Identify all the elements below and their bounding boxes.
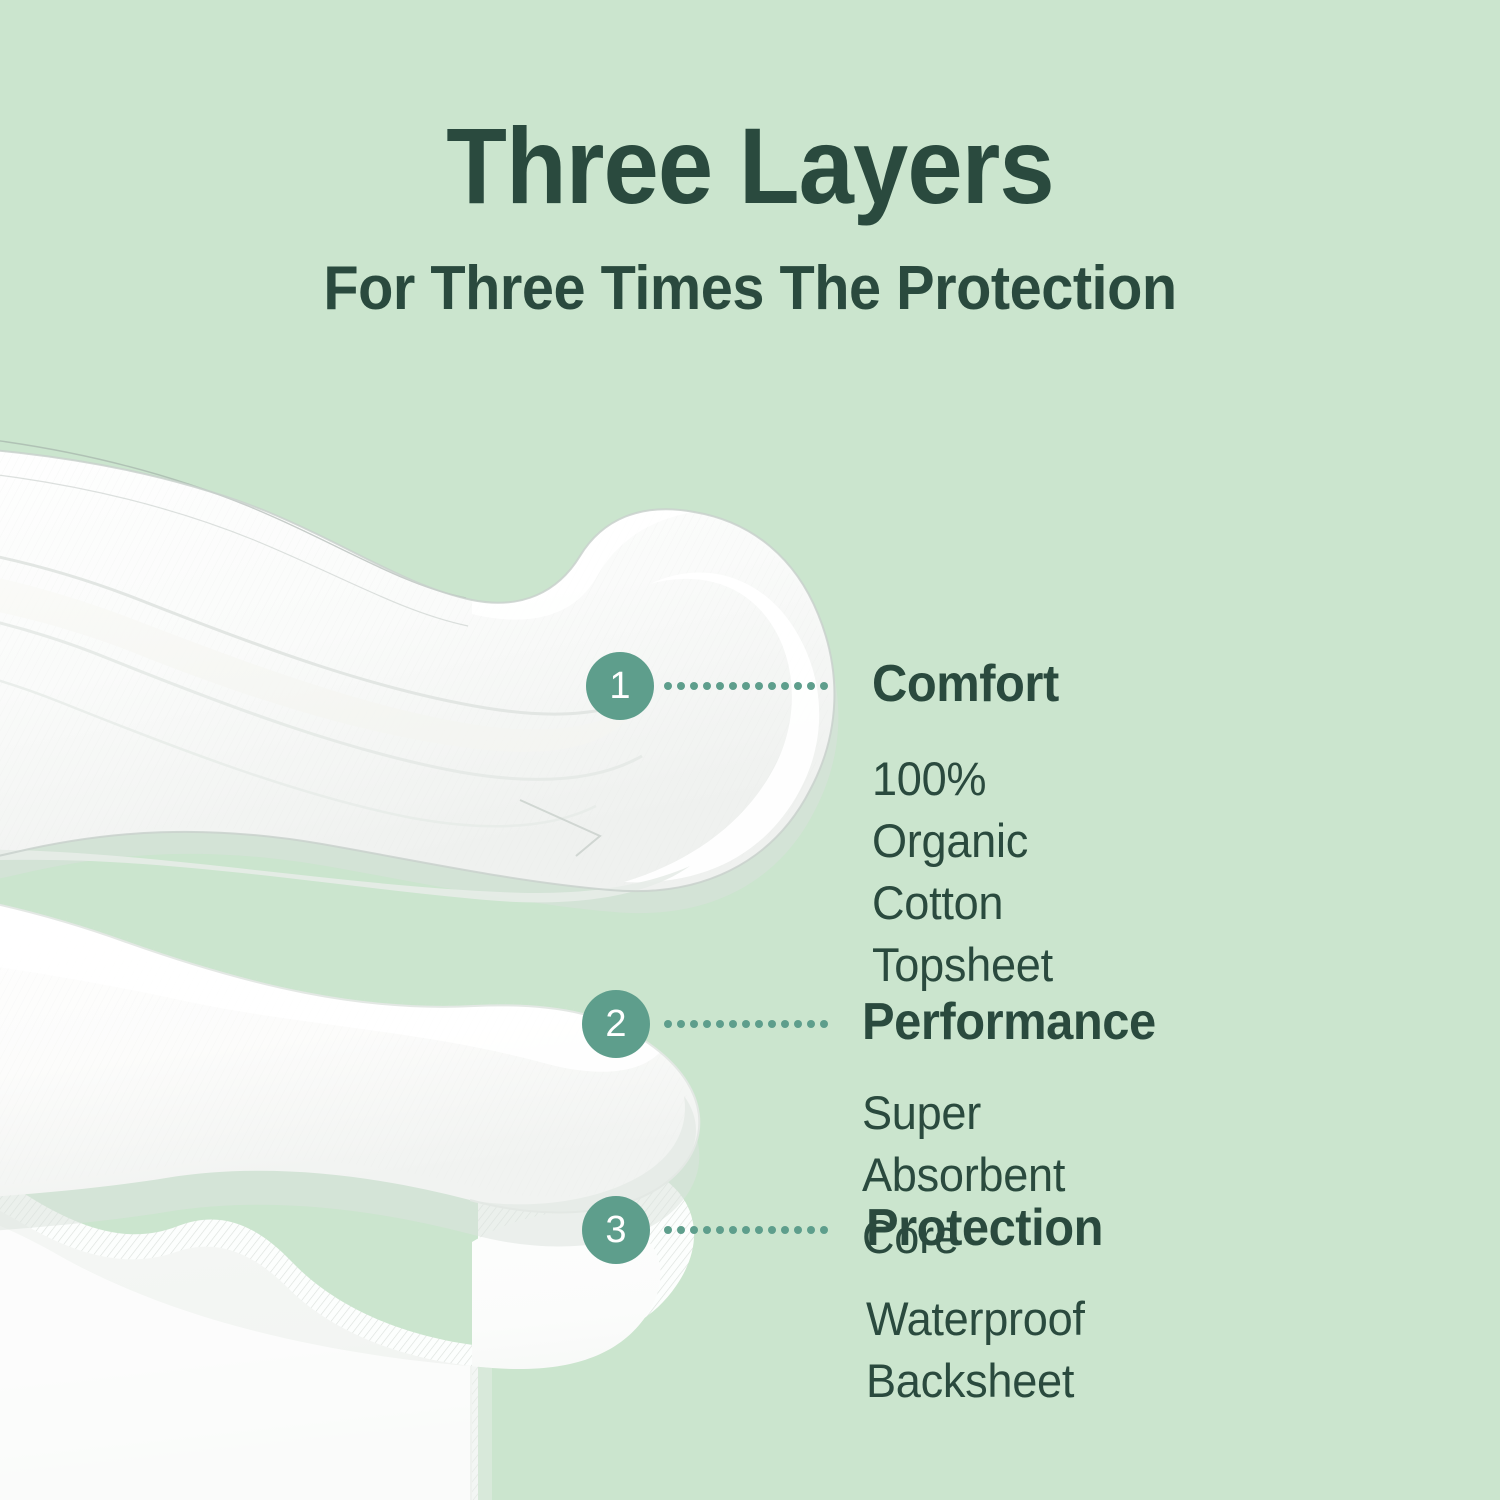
callout-badge-1[interactable]: 1: [586, 652, 654, 720]
callout-body-3: Waterproof Backsheet: [866, 1288, 1085, 1412]
callout-body-3-line-1: Waterproof Backsheet: [866, 1288, 1085, 1412]
callout-badge-1-number: 1: [609, 667, 630, 705]
callout-body-1: 100% Organic Cotton Topsheet: [872, 748, 1053, 996]
callout-badge-3[interactable]: 3: [582, 1196, 650, 1264]
callout-heading-2: Performance: [862, 996, 1156, 1048]
topsheet-layer: [0, 428, 860, 913]
callout-heading-1: Comfort: [872, 658, 1059, 710]
callout-body-1-line-2: Topsheet: [872, 934, 1053, 996]
callout-badge-3-number: 3: [605, 1211, 626, 1249]
page-title: Three Layers: [60, 112, 1440, 220]
callout-badge-2[interactable]: 2: [582, 990, 650, 1058]
infographic-page: Three Layers For Three Times The Protect…: [0, 0, 1500, 1500]
callout-dotted-line-3: [664, 1226, 824, 1234]
heading-block: Three Layers For Three Times The Protect…: [0, 0, 1500, 320]
callout-badge-2-number: 2: [605, 1005, 626, 1043]
callout-dotted-line-2: [664, 1020, 824, 1028]
callout-body-1-line-1: 100% Organic Cotton: [872, 748, 1053, 934]
page-subtitle: For Three Times The Protection: [53, 220, 1448, 320]
callout-dotted-line-1: [664, 682, 824, 690]
callout-heading-3: Protection: [866, 1202, 1103, 1254]
